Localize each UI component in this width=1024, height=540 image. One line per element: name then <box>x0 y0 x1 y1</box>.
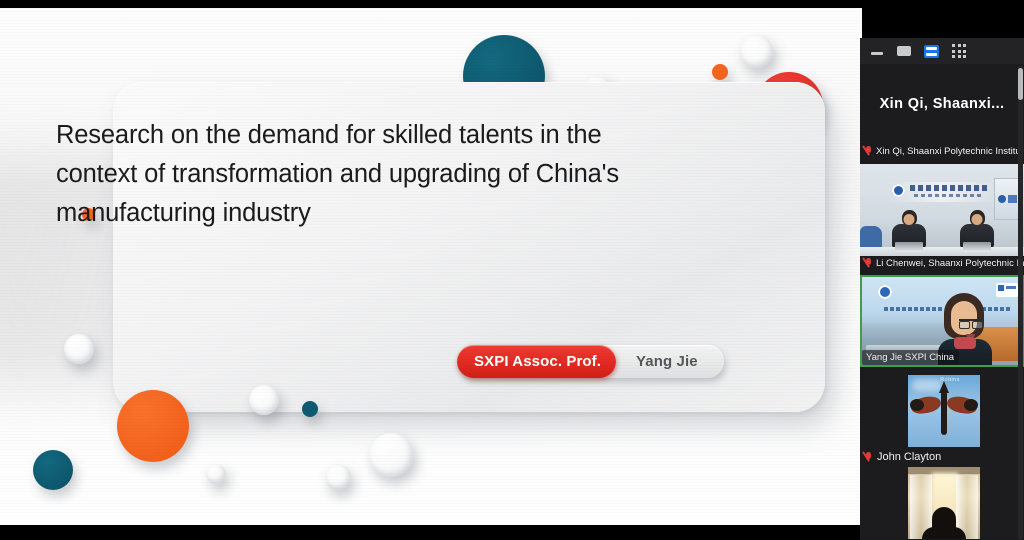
institute-logo-icon <box>878 285 892 299</box>
participant-video-xin-qi[interactable] <box>860 164 1024 256</box>
shared-screen-slide: Research on the demand for skilled talen… <box>0 8 862 525</box>
participant-video-yang-jie[interactable]: Yang Jie SXPI China <box>860 275 1024 367</box>
white-circle-bottom-b-decoration <box>206 464 226 484</box>
speaker-role-pill: SXPI Assoc. Prof. <box>457 345 616 378</box>
mic-muted-icon <box>864 452 872 463</box>
white-circle-left-decoration <box>64 334 94 364</box>
participant-tile-john-clayton[interactable]: Robins John Clayton <box>860 367 1024 463</box>
glasses-icon <box>959 319 983 326</box>
white-circle-bottom-d-decoration <box>369 433 413 477</box>
zoom-participant-panel: Xin Qi, Shaanxi... Xin Qi, Shaanxi Polyt… <box>860 38 1024 540</box>
banner-text-secondary <box>914 194 984 197</box>
institute-logo-icon <box>892 184 905 197</box>
slide-title: Research on the demand for skilled talen… <box>56 116 686 232</box>
participant-tile-xin-qi[interactable]: Xin Qi, Shaanxi Polytechnic Institu <box>860 144 1024 164</box>
participant-name: Yang Jie SXPI China <box>866 352 954 363</box>
speaker-name-pill: Yang Jie <box>616 345 724 378</box>
banner-text-primary <box>910 185 988 191</box>
participant-tile-unnamed[interactable] <box>860 463 1024 540</box>
speaker-badge: SXPI Assoc. Prof. Yang Jie <box>457 345 724 378</box>
participant-name: Li Chenwei, Shaanxi Polytechnic In <box>876 258 1024 269</box>
slide-text-left <box>884 307 942 311</box>
teal-dot-bottom-mid-decoration <box>302 401 318 417</box>
white-circle-bottom-c-decoration <box>325 464 351 490</box>
speaker-face <box>951 301 977 335</box>
side-poster <box>994 178 1020 220</box>
participant-label: John Clayton <box>864 451 941 463</box>
speaker-view-icon[interactable] <box>897 45 911 57</box>
participant-name: John Clayton <box>877 451 941 463</box>
screen: Research on the demand for skilled talen… <box>0 0 1024 540</box>
avatar: Robins <box>908 375 980 447</box>
table-surface <box>860 247 1024 256</box>
laptop-left <box>895 242 923 252</box>
participant-label-overlay: Yang Jie SXPI China <box>862 350 959 365</box>
participant-label: Li Chenwei, Shaanxi Polytechnic In <box>860 256 1024 271</box>
mic-muted-icon <box>864 146 872 157</box>
white-circle-bottom-a-decoration <box>249 385 279 415</box>
orange-circle-large-bottom-decoration <box>117 390 189 462</box>
strip-view-icon[interactable] <box>924 45 939 58</box>
bird-wingtip-right <box>964 399 978 411</box>
bird-body <box>941 391 947 435</box>
teal-circle-bottom-left-decoration <box>33 450 73 490</box>
laptop-right <box>963 242 991 252</box>
participant-video-unnamed[interactable] <box>908 467 980 539</box>
chair-shape <box>860 226 882 248</box>
zoom-panel-toolbar <box>860 38 1024 64</box>
corner-badge <box>996 283 1018 297</box>
orange-dot-top-decoration <box>712 64 728 80</box>
bird-wingtip-left <box>910 399 924 411</box>
panel-scrollbar-track[interactable] <box>1018 66 1023 540</box>
participant-label: Xin Qi, Shaanxi Polytechnic Institu <box>860 144 1024 159</box>
participant-name: Xin Qi, Shaanxi Polytechnic Institu <box>876 146 1021 157</box>
participant-tile-li-chenwei[interactable]: Li Chenwei, Shaanxi Polytechnic In <box>860 256 1024 275</box>
active-speaker-title: Xin Qi, Shaanxi... <box>860 64 1024 144</box>
speaker-scarf <box>954 337 976 349</box>
mic-muted-icon <box>864 258 872 269</box>
minimize-icon[interactable] <box>870 45 884 57</box>
panel-scrollbar-thumb[interactable] <box>1018 68 1023 100</box>
gallery-view-icon[interactable] <box>952 44 966 58</box>
white-circle-top-right-decoration <box>740 35 773 68</box>
silhouette-head <box>932 507 956 533</box>
